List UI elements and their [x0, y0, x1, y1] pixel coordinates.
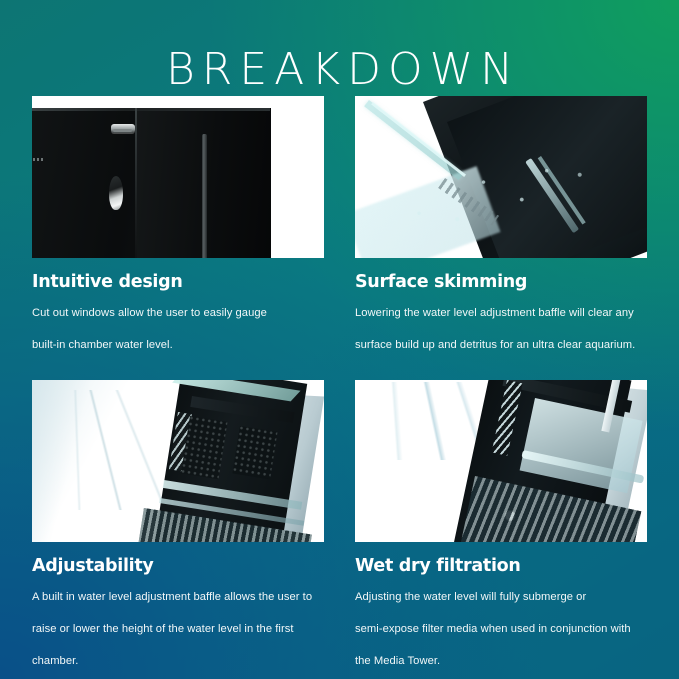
feature-body-line: chamber.	[32, 650, 324, 673]
feature-card-text: Wet dry filtration Adjusting the water l…	[355, 542, 647, 674]
feature-body-line: Cut out windows allow the user to easily…	[32, 302, 324, 325]
page-title: BREAKDOWN	[159, 47, 520, 93]
feature-card-grid: Intuitive design Cut out windows allow t…	[32, 96, 647, 673]
feature-card: Intuitive design Cut out windows allow t…	[32, 96, 324, 358]
feature-body-line: built-in chamber water level.	[32, 334, 324, 357]
feature-body-line: Lowering the water level adjustment baff…	[355, 302, 647, 325]
product-photo-adjustability	[32, 380, 324, 542]
feature-card-text: Intuitive design Cut out windows allow t…	[32, 258, 324, 358]
feature-body-line: semi-expose filter media when used in co…	[355, 618, 647, 641]
product-photo-surface-skimming	[355, 96, 647, 258]
water-level-gauge	[109, 176, 123, 210]
sump-panel-seam	[135, 108, 137, 258]
feature-heading: Intuitive design	[32, 272, 324, 293]
feature-card-text: Surface skimming Lowering the water leve…	[355, 258, 647, 358]
feature-heading: Wet dry filtration	[355, 556, 647, 577]
feature-body-line: surface build up and detritus for an ult…	[355, 334, 647, 357]
filter-media-block	[232, 426, 277, 479]
product-photo-wet-dry-filtration	[355, 380, 647, 542]
cutout-window	[111, 124, 135, 133]
feature-card: Surface skimming Lowering the water leve…	[355, 96, 647, 358]
feature-card: Wet dry filtration Adjusting the water l…	[355, 380, 647, 674]
sump-top-edge	[32, 108, 270, 111]
feature-body-line: Adjusting the water level will fully sub…	[355, 586, 647, 609]
sump-side-markings	[33, 158, 43, 161]
feature-body-line: the Media Tower.	[355, 650, 647, 673]
feature-body-line: raise or lower the height of the water l…	[32, 618, 324, 641]
product-feature-poster: BREAKDOWN Intuitive design Cut out windo…	[0, 0, 679, 679]
feature-card-text: Adjustability A built in water level adj…	[32, 542, 324, 674]
feature-heading: Adjustability	[32, 556, 324, 577]
feature-heading: Surface skimming	[355, 272, 647, 293]
product-photo-intuitive-design	[32, 96, 324, 258]
feature-body-line: A built in water level adjustment baffle…	[32, 586, 324, 609]
feature-card: Adjustability A built in water level adj…	[32, 380, 324, 674]
sump-vertical-rod	[202, 134, 207, 258]
